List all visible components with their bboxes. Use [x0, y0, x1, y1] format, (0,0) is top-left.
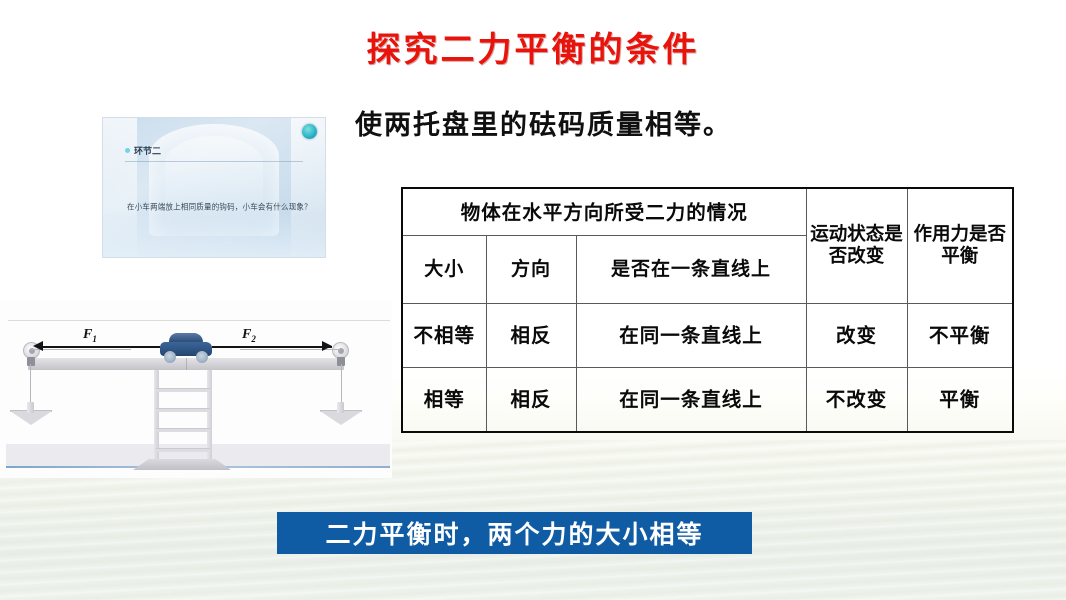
conclusion-text: 二力平衡时，两个力的大小相等	[325, 515, 703, 551]
cell-motion-row1: 改变	[806, 304, 907, 368]
thumbnail-question-text: 在小车两端放上相同质量的钩码，小车会有什么现象？	[127, 201, 317, 213]
results-table-wrapper: 物体在水平方向所受二力的情况 运动状态是否改变 作用力是否平衡 大小 方向 是否…	[401, 187, 1012, 433]
stand-frame	[152, 370, 214, 462]
cell-magnitude-row1: 不相等	[402, 304, 486, 368]
force-label-f1: F1	[83, 327, 97, 344]
force-label-f2-symbol: F	[242, 327, 251, 342]
apparatus-diagram: F1 F2	[0, 300, 392, 478]
page-title: 探究二力平衡的条件	[0, 22, 1066, 71]
header-motion-state: 运动状态是否改变	[806, 188, 907, 304]
weight-right-icon	[337, 402, 344, 413]
weight-pan-left	[10, 401, 52, 425]
cell-balance-row1: 不平衡	[907, 304, 1013, 368]
thumbnail-floor	[103, 213, 325, 257]
car-wheel-back	[196, 351, 208, 363]
table-row: 不相等 相反 在同一条直线上 改变 不平衡	[402, 304, 1013, 368]
force-arrow-left-head-icon	[33, 341, 43, 351]
pan-body-right	[320, 411, 362, 425]
bullet-icon	[125, 148, 130, 153]
table-row: 相等 相反 在同一条直线上 不改变 平衡	[402, 368, 1013, 433]
subtitle-text: 使两托盘里的砝码质量相等。	[355, 103, 732, 142]
header-same-line: 是否在一条直线上	[576, 236, 806, 304]
cell-magnitude-row2: 相等	[402, 368, 486, 433]
force-label-f2: F2	[242, 327, 256, 344]
header-direction: 方向	[486, 236, 576, 304]
string-vertical-left	[30, 364, 31, 403]
table-header-row-1: 物体在水平方向所受二力的情况 运动状态是否改变 作用力是否平衡	[402, 188, 1013, 236]
force-label-f1-symbol: F	[83, 327, 92, 342]
cell-balance-row2: 平衡	[907, 368, 1013, 433]
cell-direction-row2: 相反	[486, 368, 576, 433]
video-thumbnail[interactable]: 环节二 在小车两端放上相同质量的钩码，小车会有什么现象？	[103, 118, 325, 257]
bench-seam	[186, 358, 187, 370]
results-table: 物体在水平方向所受二力的情况 运动状态是否改变 作用力是否平衡 大小 方向 是否…	[401, 187, 1014, 433]
conclusion-banner: 二力平衡时，两个力的大小相等	[277, 512, 752, 554]
pan-body-left	[10, 411, 52, 425]
thumbnail-chapter: 环节二	[125, 144, 161, 157]
force-arrow-right-shaft	[212, 346, 332, 348]
force-label-f1-subscript: 1	[92, 334, 97, 344]
toy-car-icon	[160, 333, 212, 359]
header-magnitude: 大小	[402, 236, 486, 304]
cell-direction-row1: 相反	[486, 304, 576, 368]
cell-motion-row2: 不改变	[806, 368, 907, 433]
string-horizontal-left	[31, 349, 131, 350]
stand-rung	[156, 408, 210, 412]
cell-same-line-row2: 在同一条直线上	[576, 368, 806, 433]
thumbnail-chapter-label: 环节二	[134, 144, 161, 157]
stand-base	[133, 459, 231, 470]
stand-rung	[156, 388, 210, 392]
diagram-top-rule	[8, 320, 390, 321]
stand-rung	[156, 428, 210, 432]
force-arrow-left-shaft	[38, 346, 160, 348]
car-wheel-front	[164, 351, 176, 363]
force-label-f2-subscript: 2	[251, 334, 256, 344]
string-vertical-right	[341, 364, 342, 403]
channel-logo-icon	[302, 124, 317, 139]
header-force-balance: 作用力是否平衡	[907, 188, 1013, 304]
force-arrow-right-head-icon	[322, 341, 332, 351]
header-force-conditions: 物体在水平方向所受二力的情况	[402, 188, 806, 236]
slide-canvas: 探究二力平衡的条件 使两托盘里的砝码质量相等。 环节二 在小车两端放上相同质量的…	[0, 0, 1066, 600]
stand-rung	[156, 448, 210, 452]
weight-left-icon	[27, 402, 34, 413]
weight-pan-right	[320, 401, 362, 425]
cell-same-line-row1: 在同一条直线上	[576, 304, 806, 368]
thumbnail-divider	[125, 161, 303, 162]
